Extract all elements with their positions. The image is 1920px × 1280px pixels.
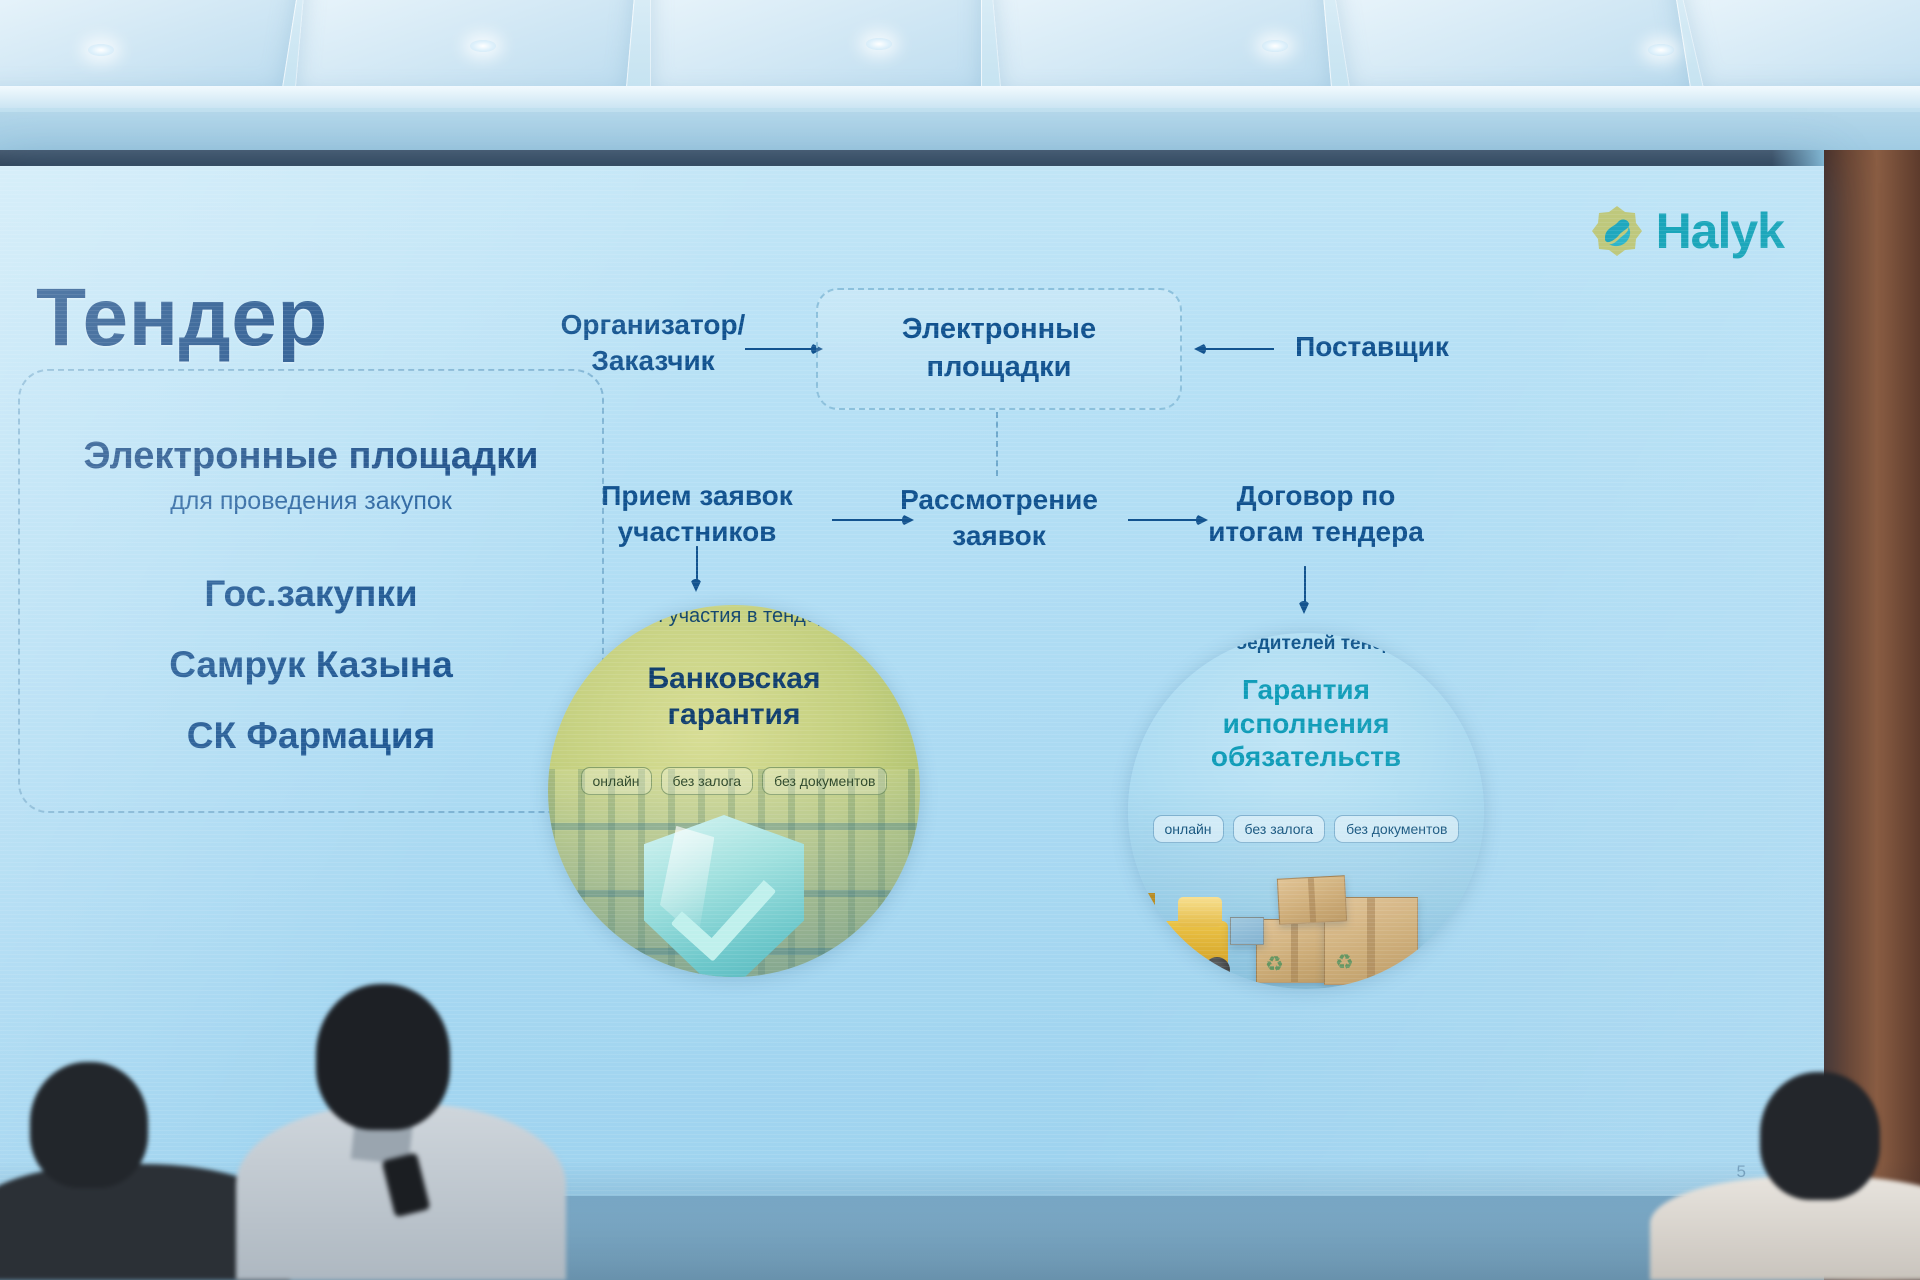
status-badge: без залога — [1233, 815, 1326, 843]
halyk-logo: Halyk — [1590, 202, 1784, 260]
shield-check-icon — [644, 815, 804, 977]
card-bank-guarantee: Банковская гарантия для участия в тендер… — [548, 605, 920, 977]
card-performance-guarantee-title: Гарантия исполнения обязательств — [1128, 673, 1484, 774]
status-badge: без документов — [1334, 815, 1459, 843]
page-title: Тендер — [36, 271, 328, 365]
card-performance-guarantee-subtitle: для победителей тенедеров — [1128, 633, 1484, 655]
arrow-down-icon — [690, 546, 703, 592]
dashed-vertical-connector — [996, 412, 998, 476]
status-badge: без документов — [762, 767, 887, 795]
status-badge: без залога — [661, 767, 754, 795]
flow-step-review-line1: Рассмотрение — [900, 484, 1098, 515]
downlight-icon — [470, 40, 496, 52]
platforms-card-heading: Электронные площадки — [20, 435, 602, 478]
flow-label-organizer-line2: Заказчик — [591, 345, 714, 376]
card-bank-title-line2: гарантия — [668, 698, 801, 731]
card-perf-title-line1: Гарантия — [1242, 674, 1370, 705]
flow-step-contract-line2: итогам тендера — [1208, 516, 1424, 547]
ceiling-coffer — [1330, 0, 1691, 92]
flow-label-organizer-line1: Организатор/ — [561, 309, 746, 340]
halyk-logo-icon — [1590, 204, 1644, 258]
downlight-icon — [1648, 44, 1674, 56]
flow-step-contract: Договор по итогам тендера — [1192, 478, 1440, 550]
flow-step-intake-line1: Прием заявок — [601, 480, 793, 511]
card-bank-guarantee-title: Банковская гарантия — [548, 661, 920, 733]
arrow-right-icon — [745, 342, 823, 355]
downlight-icon — [866, 38, 892, 50]
flow-box-line1: Электронные — [902, 311, 1096, 349]
card-performance-guarantee-badges: онлайн без залога без документов — [1128, 815, 1484, 843]
ceiling-coffer — [1677, 0, 1920, 90]
ceiling-beam — [0, 86, 1920, 108]
ceiling-coffer — [650, 0, 982, 94]
platforms-card-subheading: для проведения закупок — [20, 487, 602, 516]
audience-person — [1650, 1098, 1920, 1280]
flow-box-electronic-platforms: Электронные площадки — [816, 288, 1182, 410]
arrow-left-icon — [1194, 342, 1274, 355]
downlight-icon — [1262, 40, 1288, 52]
halyk-logo-text: Halyk — [1656, 202, 1784, 260]
status-badge: онлайн — [1153, 815, 1224, 843]
card-performance-guarantee: ♻ ♻ Гарантия исполнения обязательств для… — [1128, 633, 1484, 989]
downlight-icon — [88, 44, 114, 56]
list-item: СК Фармация — [20, 715, 602, 757]
flow-step-contract-line1: Договор по — [1237, 480, 1396, 511]
list-item: Гос.закупки — [20, 573, 602, 615]
audience-person — [236, 996, 566, 1280]
flow-label-supplier: Поставщик — [1272, 329, 1472, 365]
flow-box-line2: площадки — [927, 349, 1072, 387]
status-badge: онлайн — [581, 767, 652, 795]
list-item: Самрук Казына — [20, 644, 602, 686]
flow-step-intake-line2: участников — [618, 516, 777, 547]
flow-step-review: Рассмотрение заявок — [884, 482, 1114, 554]
card-bank-title-line1: Банковская — [648, 662, 821, 695]
card-perf-title-line2: исполнения — [1223, 708, 1390, 739]
flow-step-review-line2: заявок — [952, 520, 1045, 551]
ceiling-coffer — [294, 0, 637, 94]
conference-room-photo: Тендер Halyk Электронные площадки для пр… — [0, 0, 1920, 1280]
flow-label-organizer: Организатор/ Заказчик — [538, 307, 768, 379]
platforms-card: Электронные площадки для проведения заку… — [18, 369, 604, 813]
card-perf-title-line3: обязательств — [1211, 741, 1401, 772]
flow-step-intake: Прием заявок участников — [574, 478, 820, 550]
card-bank-guarantee-badges: онлайн без залога без документов — [548, 767, 920, 795]
ceiling-coffer — [0, 0, 302, 92]
arrow-down-icon — [1298, 566, 1311, 614]
